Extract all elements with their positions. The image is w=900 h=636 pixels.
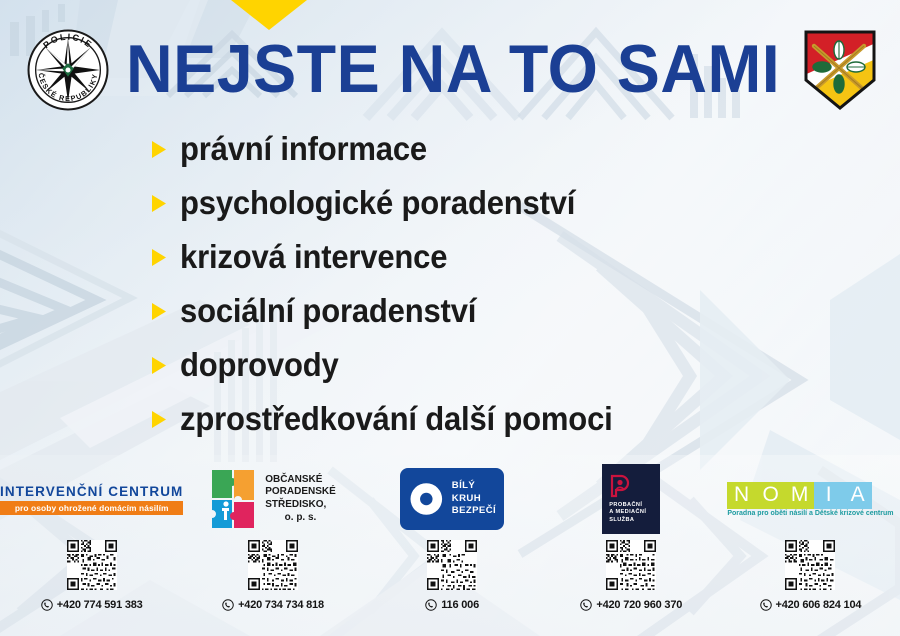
partner-phone[interactable]: +420 720 960 370 [580, 599, 682, 611]
partner-obcanske-poradenske-stredisko: OBČANSKÉ PORADENSKÉ STŘEDISKO, o. p. s. [183, 462, 362, 636]
partner-intervencni-centrum: INTERVENČNÍ CENTRUM pro osoby ohrožené d… [0, 462, 183, 636]
partner-logo: N O M I A Poradna pro oběti násilí a Dět… [727, 466, 893, 532]
list-item-label: psychologické poradenství [180, 185, 575, 221]
poster-header: POLICIE ČESKÉ REPUBLIKY NEJSTE NA TO SAM… [0, 0, 900, 118]
triangle-bullet-icon [152, 303, 166, 320]
partner-name-line1: OBČANSKÉ [265, 474, 322, 485]
partner-phone[interactable]: +420 606 824 104 [760, 599, 862, 611]
partner-probacni-a-mediacni-sluzba: PROBAČNÍ A MEDIAČNÍ SLUŽBA [542, 462, 721, 636]
list-item: krizová intervence [152, 230, 852, 283]
list-item: psychologické poradenství [152, 176, 852, 229]
triangle-bullet-icon [152, 411, 166, 428]
triangle-bullet-icon [152, 249, 166, 266]
nomia-letter: I [814, 482, 843, 509]
nomia-letter: O [756, 482, 785, 509]
partner-phone[interactable]: 116 006 [425, 599, 479, 611]
partner-name-line2: PORADENSKÉ [265, 486, 336, 497]
partner-bily-kruh-bezpeci: BÍLÝ KRUH BEZPEČÍ [363, 462, 542, 636]
phone-number: +420 720 960 370 [596, 599, 682, 611]
triangle-bullet-icon [152, 195, 166, 212]
list-item: doprovody [152, 338, 852, 391]
partner-logo: INTERVENČNÍ CENTRUM pro osoby ohrožené d… [0, 466, 183, 532]
qr-code[interactable] [606, 540, 656, 590]
nomia-letter: M [785, 482, 814, 509]
partner-name: OBČANSKÉ PORADENSKÉ STŘEDISKO, o. p. s. [265, 474, 336, 524]
partner-name: BÍLÝ KRUH BEZPEČÍ [452, 480, 496, 518]
qr-code[interactable] [67, 540, 117, 590]
nomia-letter: A [843, 482, 872, 509]
service-list: právní informace psychologické poradenst… [152, 122, 852, 446]
partner-logo: OBČANSKÉ PORADENSKÉ STŘEDISKO, o. p. s. [210, 466, 336, 532]
partner-name: INTERVENČNÍ CENTRUM [0, 484, 183, 499]
white-circle-icon [408, 477, 445, 521]
partner-nomia: N O M I A Poradna pro oběti násilí a Dět… [721, 462, 900, 636]
partner-name-line1: BÍLÝ [452, 480, 475, 491]
partner-logo: BÍLÝ KRUH BEZPEČÍ [400, 466, 504, 532]
nomia-letter: N [727, 482, 756, 509]
partner-phone[interactable]: +420 734 734 818 [222, 599, 324, 611]
qr-code[interactable] [248, 540, 298, 590]
triangle-bullet-icon [152, 141, 166, 158]
partner-name-line3: BEZPEČÍ [452, 505, 496, 516]
list-item: právní informace [152, 122, 852, 175]
nomia-letter-blocks: N O M I A [727, 482, 893, 509]
partner-name-line4: o. p. s. [265, 512, 336, 525]
coat-of-arms-shield-icon [802, 28, 878, 112]
phone-number: +420 606 824 104 [776, 599, 862, 611]
phone-number: 116 006 [441, 599, 479, 611]
partner-tagline: Poradna pro oběti násilí a Dětské krizov… [727, 510, 893, 517]
partner-name-line2: A MEDIAČNÍ [609, 509, 646, 515]
list-item-label: zprostředkování další pomoci [180, 401, 613, 437]
partner-name-line3: SLUŽBA [609, 517, 634, 523]
list-item-label: právní informace [180, 131, 427, 167]
partner-tagline: pro osoby ohrožené domácím násilím [0, 501, 183, 515]
triangle-bullet-icon [152, 357, 166, 374]
list-item-label: sociální poradenství [180, 293, 476, 329]
poster-root: POLICIE ČESKÉ REPUBLIKY NEJSTE NA TO SAM… [0, 0, 900, 636]
phone-number: +420 774 591 383 [57, 599, 143, 611]
list-item-label: doprovody [180, 347, 339, 383]
partner-logo: PROBAČNÍ A MEDIAČNÍ SLUŽBA [602, 466, 660, 532]
qr-code[interactable] [785, 540, 835, 590]
phone-icon [760, 599, 772, 611]
partner-name-line1: PROBAČNÍ [609, 502, 642, 508]
phone-icon [580, 599, 592, 611]
phone-icon [222, 599, 234, 611]
partner-strip: INTERVENČNÍ CENTRUM pro osoby ohrožené d… [0, 462, 900, 636]
list-item: sociální poradenství [152, 284, 852, 337]
pms-mark-icon [609, 474, 631, 498]
puzzle-pieces-icon [210, 468, 258, 530]
partner-name-line3: STŘEDISKO, [265, 499, 326, 510]
partner-phone[interactable]: +420 774 591 383 [41, 599, 143, 611]
police-cr-emblem-icon: POLICIE ČESKÉ REPUBLIKY [26, 28, 110, 112]
list-item: zprostředkování další pomoci [152, 392, 852, 445]
phone-number: +420 734 734 818 [238, 599, 324, 611]
list-item-label: krizová intervence [180, 239, 447, 275]
partner-name-line2: KRUH [452, 493, 481, 504]
qr-code[interactable] [427, 540, 477, 590]
phone-icon [41, 599, 53, 611]
partner-name: PROBAČNÍ A MEDIAČNÍ SLUŽBA [609, 502, 646, 525]
phone-icon [425, 599, 437, 611]
page-title: NEJSTE NA TO SAMI [126, 32, 753, 106]
